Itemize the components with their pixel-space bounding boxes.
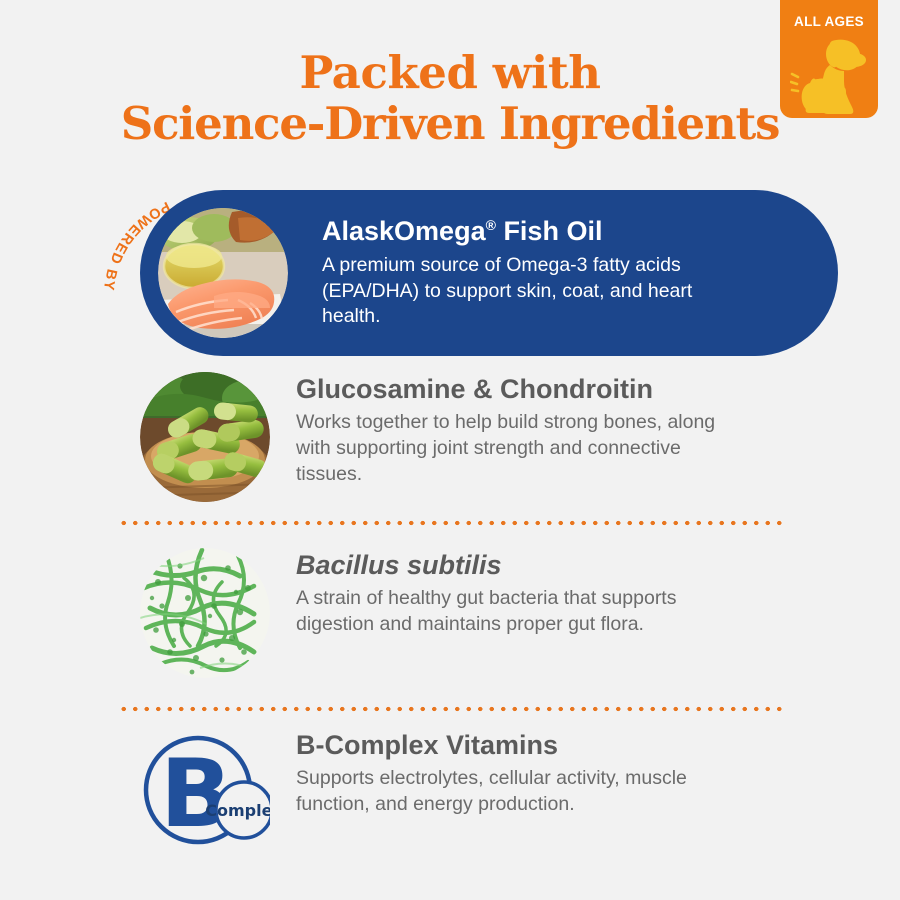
ingredient-card-body: B-Complex Vitamins Supports electrolytes… (270, 728, 716, 818)
all-ages-badge-label: ALL AGES (794, 14, 864, 29)
ingredient-card-b-complex[interactable]: B Complex B-Complex Vitamins Supports el… (140, 728, 838, 858)
ingredient-description: A strain of healthy gut bacteria that su… (296, 586, 716, 637)
ingredient-card-body: Glucosamine & Chondroitin Works together… (270, 372, 716, 487)
ingredient-description: Supports electrolytes, cellular activity… (296, 766, 716, 817)
ingredient-card-glucosamine[interactable]: Glucosamine & Chondroitin Works together… (140, 372, 838, 502)
ingredient-title: Bacillus subtilis (296, 550, 716, 581)
ingredients-infographic: ALL AGES (0, 0, 900, 900)
ingredient-title: Glucosamine & Chondroitin (296, 374, 716, 405)
ingredient-title: B-Complex Vitamins (296, 730, 716, 761)
divider-1 (118, 520, 782, 526)
page-title-line-1: Packed with (0, 48, 900, 99)
b-complex-logo-icon: B Complex (140, 728, 270, 858)
page-title-line-2: Science-Driven Ingredients (0, 99, 900, 150)
ingredient-title-suffix: Fish Oil (496, 216, 603, 246)
ingredient-title-main: AlaskOmega (322, 216, 486, 246)
registered-trademark-icon: ® (486, 217, 496, 233)
green-capsules-wooden-bowl-photo (140, 372, 270, 502)
b-complex-sublabel: Complex (205, 801, 270, 820)
salmon-fillet-avocado-oil-photo (158, 208, 288, 338)
ingredient-card-alaskomega[interactable]: AlaskOmega® Fish Oil A premium source of… (140, 190, 838, 356)
ingredient-card-bacillus-subtilis[interactable]: Bacillus subtilis A strain of healthy gu… (140, 548, 838, 678)
ingredient-description: Works together to help build strong bone… (296, 410, 716, 487)
ingredient-card-body: AlaskOmega® Fish Oil A premium source of… (288, 216, 752, 330)
ingredient-title: AlaskOmega® Fish Oil (322, 216, 752, 247)
ingredient-card-body: Bacillus subtilis A strain of healthy gu… (270, 548, 716, 638)
page-title: Packed with Science-Driven Ingredients (0, 48, 900, 150)
divider-2 (118, 706, 782, 712)
ingredient-description: A premium source of Omega-3 fatty acids … (322, 253, 752, 330)
bacteria-microscopy-photo (140, 548, 270, 678)
